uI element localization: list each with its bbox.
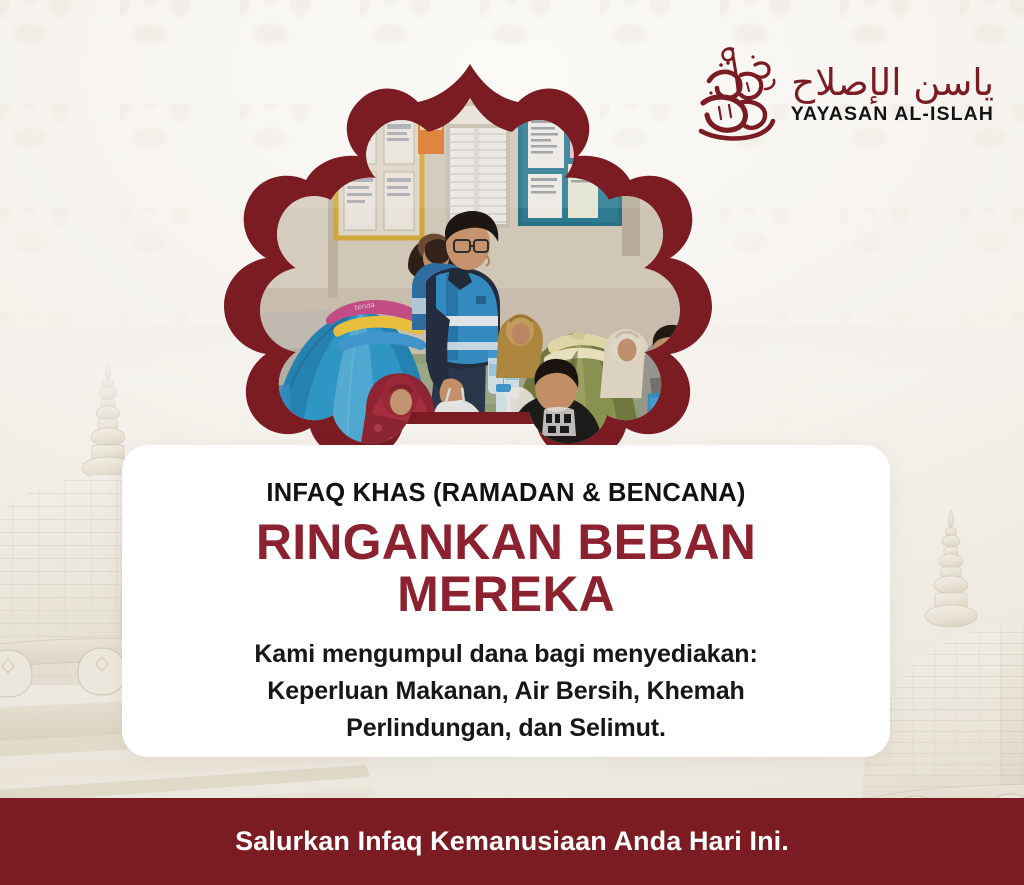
scalloped-ogee-arch-frame-icon: tenda <box>150 58 790 468</box>
body-line-2: Keperluan Makanan, Air Bersih, Khemah <box>254 673 757 710</box>
card-body-copy: Kami mengumpul dana bagi menyediakan: Ke… <box>254 636 757 746</box>
hero-photo-frame: tenda <box>150 58 790 468</box>
footer-cta-text: Salurkan Infaq Kemanusiaan Anda Hari Ini… <box>235 826 789 857</box>
body-line-1: Kami mengumpul dana bagi menyediakan: <box>254 636 757 673</box>
brand-arabic-name: ياسن الإصلاح <box>791 64 994 102</box>
poster-canvas: ياسن الإصلاح YAYASAN AL-ISLAH <box>0 0 1024 885</box>
content-card: INFAQ KHAS (RAMADAN & BENCANA) RINGANKAN… <box>122 445 890 757</box>
card-headline: RINGANKAN BEBAN MEREKA <box>256 516 756 620</box>
footer-cta-bar: Salurkan Infaq Kemanusiaan Anda Hari Ini… <box>0 798 1024 885</box>
headline-line-1: RINGANKAN BEBAN <box>256 516 756 568</box>
body-line-3: Perlindungan, dan Selimut. <box>254 710 757 747</box>
headline-line-2: MEREKA <box>256 568 756 620</box>
brand-latin-name: YAYASAN AL-ISLAH <box>791 103 994 126</box>
card-kicker: INFAQ KHAS (RAMADAN & BENCANA) <box>266 479 745 508</box>
